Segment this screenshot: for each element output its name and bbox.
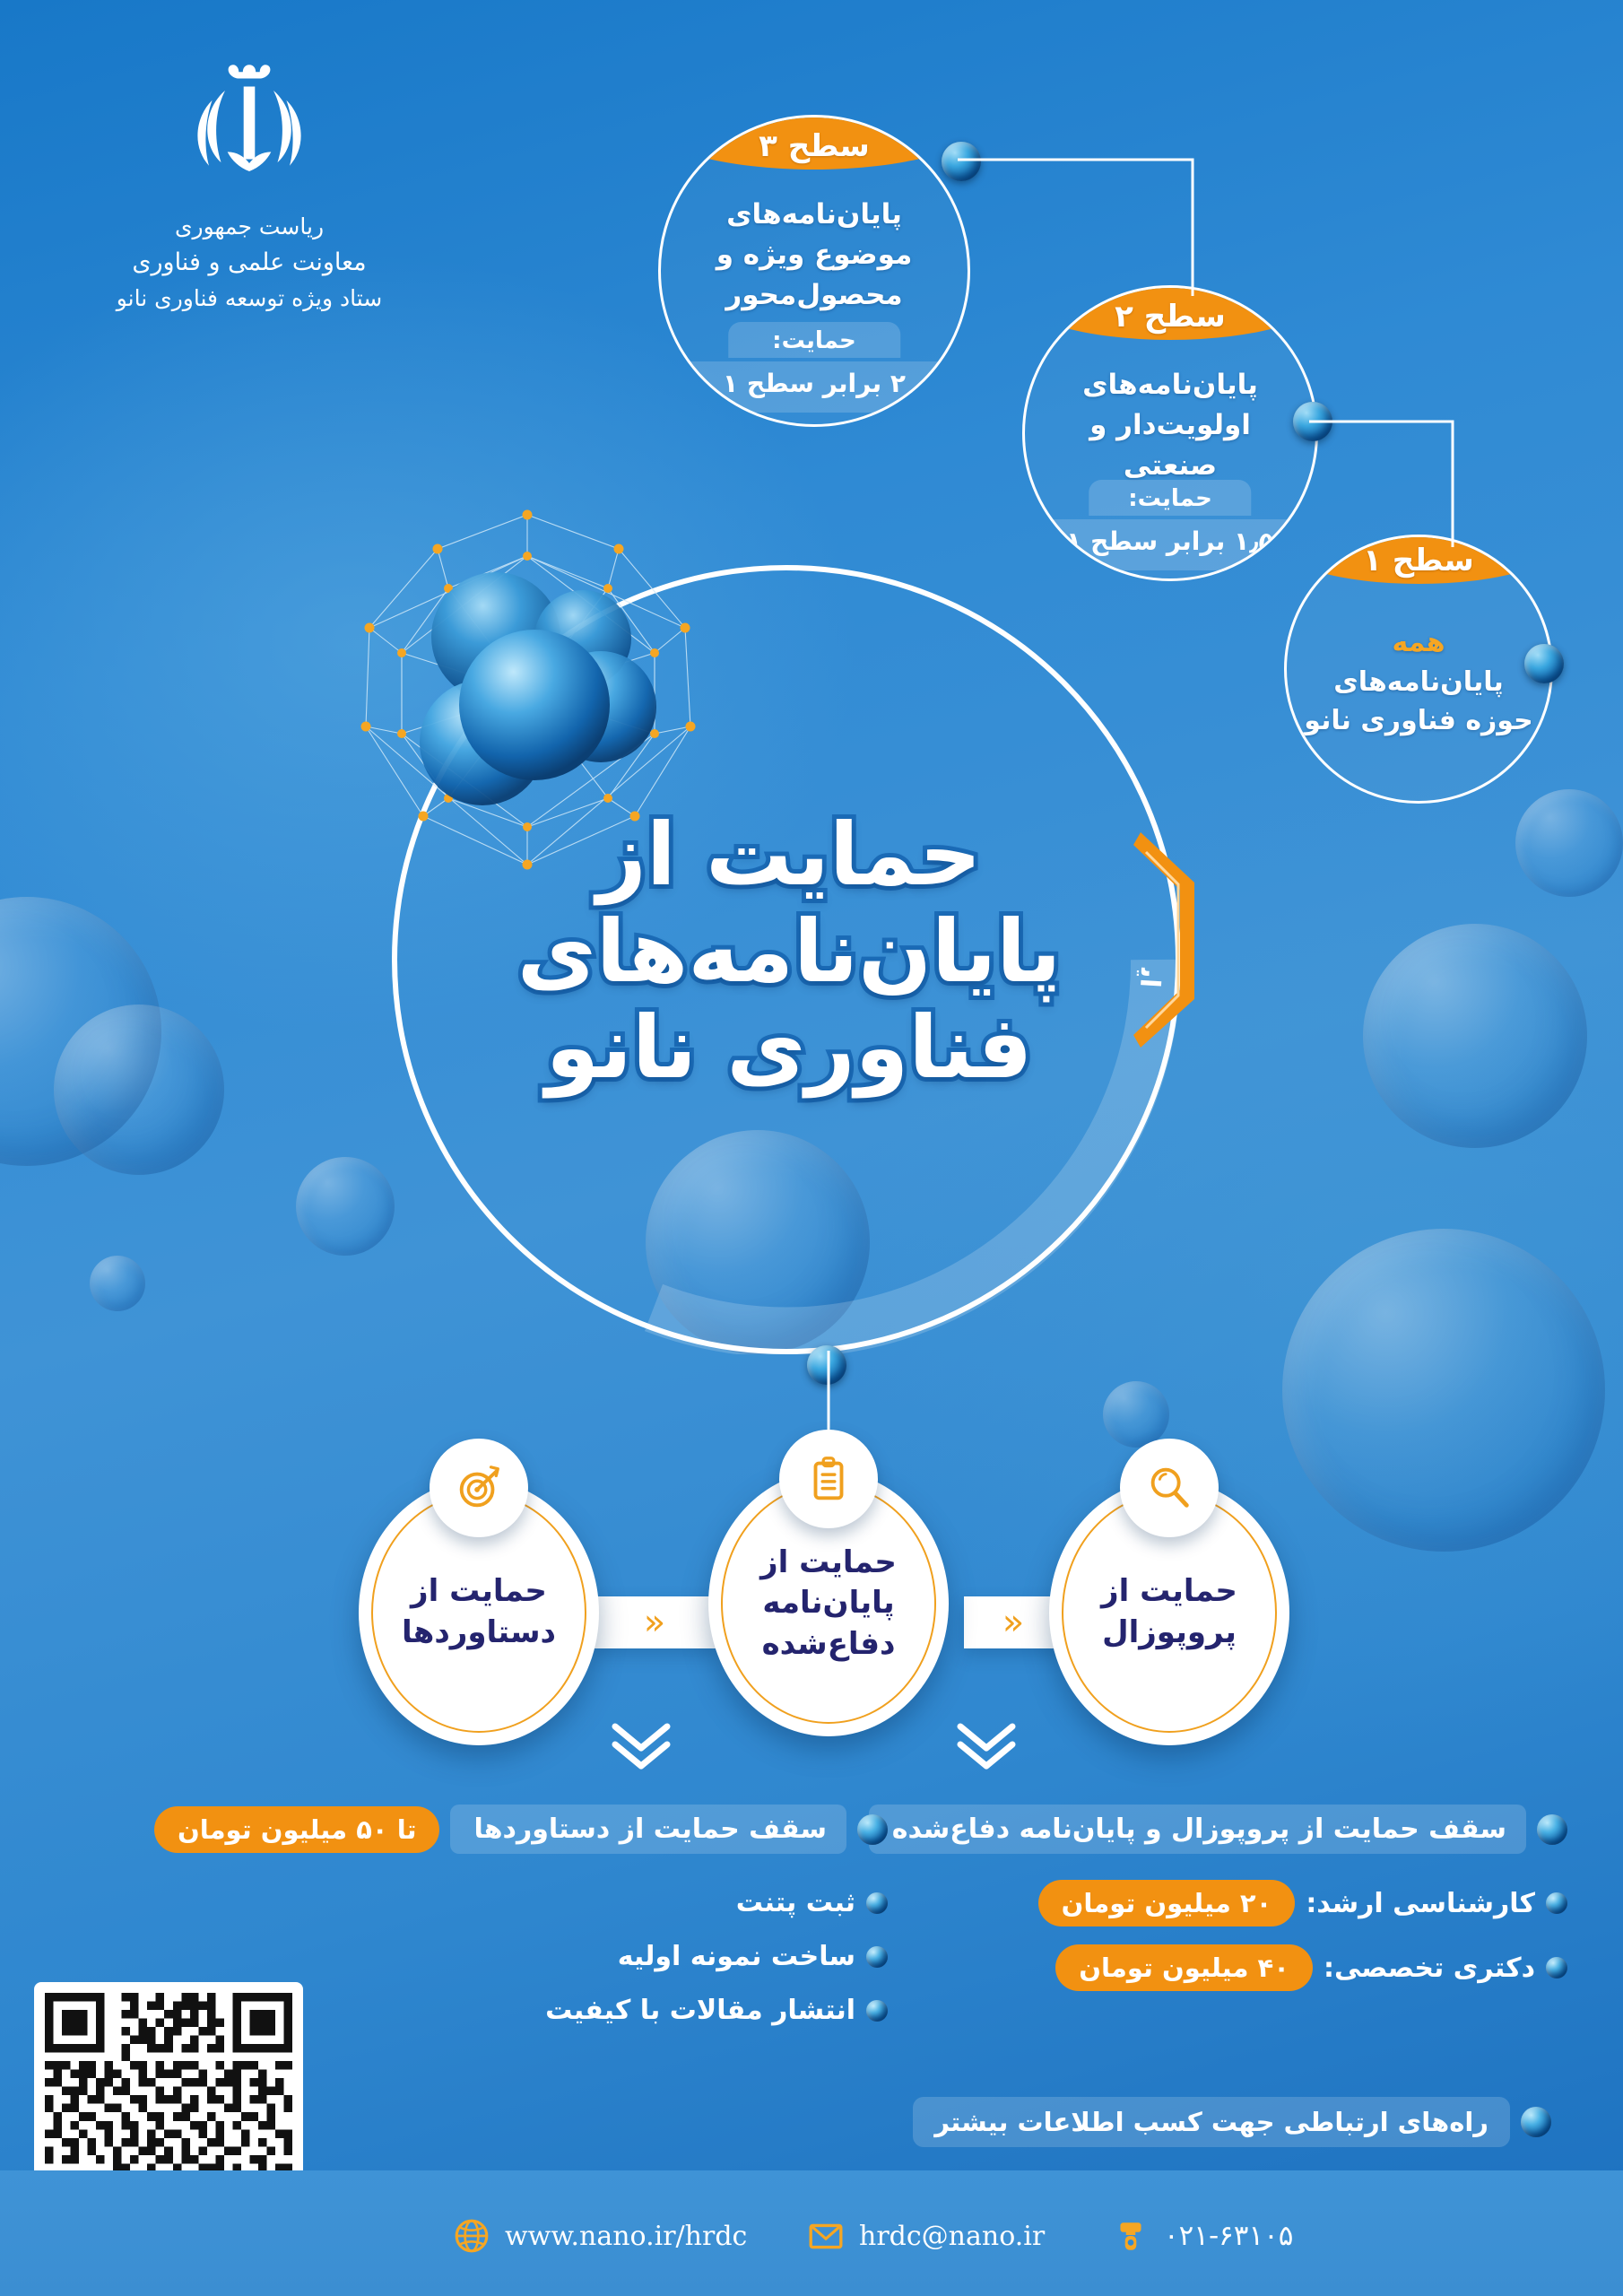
background-bubble bbox=[90, 1256, 145, 1311]
contact-website-text: www.nano.ir/hrdc bbox=[505, 2221, 747, 2252]
card-support-defended-thesis[interactable]: حمایت از پایان‌نامه دفاع‌شده bbox=[708, 1471, 949, 1736]
contact-email[interactable]: hrdc@nano.ir bbox=[807, 2217, 1045, 2255]
support-right-title: سقف حمایت از پروپوزال و پایان‌نامه دفاع‌… bbox=[869, 1805, 1567, 1854]
achievement-item-label: ساخت نمونه اولیه bbox=[618, 1941, 855, 1972]
achievement-item: ساخت نمونه اولیه bbox=[618, 1941, 888, 1972]
contact-website[interactable]: www.nano.ir/hrdc bbox=[453, 2217, 747, 2255]
magnifier-icon bbox=[1120, 1439, 1219, 1537]
bullet-orb-icon bbox=[1537, 1814, 1567, 1845]
orange-chevron-accent bbox=[1132, 832, 1198, 1048]
contact-section-title-text: راه‌های ارتباطی جهت کسب اطلاعات بیشتر bbox=[913, 2097, 1510, 2147]
contact-phone-text: ۰۲۱-۶۳۱۰۵ bbox=[1164, 2220, 1293, 2252]
bullet-orb-icon bbox=[1546, 1892, 1567, 1914]
card-achievements-label: حمایت از دستاوردها bbox=[359, 1571, 599, 1653]
globe-icon bbox=[453, 2217, 490, 2255]
bullet-orb-icon bbox=[1546, 1957, 1567, 1979]
bullet-orb-icon bbox=[866, 1946, 888, 1968]
envelope-icon bbox=[807, 2217, 845, 2255]
support-right-row-phd: دکتری تخصصی: ۴۰ میلیون تومان bbox=[1055, 1944, 1567, 1991]
bullet-orb-icon bbox=[866, 2000, 888, 2022]
flow-connector-left: « bbox=[592, 1596, 717, 1648]
support-left-title-text: سقف حمایت از دستاوردها bbox=[450, 1805, 846, 1854]
masters-label: کارشناسی ارشد: bbox=[1306, 1888, 1535, 1919]
support-left-amount: تا ۵۰ میلیون تومان bbox=[154, 1806, 440, 1853]
clipboard-icon bbox=[779, 1430, 878, 1528]
telephone-icon bbox=[1112, 2217, 1150, 2255]
achievement-item-label: انتشار مقالات با کیفیت bbox=[545, 1995, 855, 2026]
phd-label: دکتری تخصصی: bbox=[1324, 1952, 1535, 1984]
flow-chevron-right: « bbox=[1002, 1605, 1024, 1640]
title-line-2: پایان‌نامه‌های bbox=[466, 904, 1112, 1001]
background-bubble bbox=[0, 897, 161, 1166]
target-icon bbox=[430, 1439, 528, 1537]
support-left-title: سقف حمایت از دستاوردها تا ۵۰ میلیون توما… bbox=[154, 1805, 888, 1854]
contact-section-title: راه‌های ارتباطی جهت کسب اطلاعات بیشتر bbox=[913, 2097, 1551, 2147]
achievement-item: انتشار مقالات با کیفیت bbox=[545, 1995, 888, 2026]
contact-phone[interactable]: ۰۲۱-۶۳۱۰۵ bbox=[1112, 2217, 1293, 2255]
achievement-item: ثبت پتنت bbox=[736, 1887, 888, 1918]
card-support-achievements[interactable]: حمایت از دستاوردها bbox=[359, 1480, 599, 1745]
background-bubble bbox=[1282, 1229, 1605, 1552]
title-line-3: فناوری نانو bbox=[466, 1000, 1112, 1097]
bullet-orb-icon bbox=[857, 1814, 888, 1845]
poster-canvas: ریاست جمهوری معاونت علمی و فناوری ستاد و… bbox=[0, 0, 1623, 2296]
title-line-1: حمایت از bbox=[466, 807, 1112, 904]
support-right-row-masters: کارشناسی ارشد: ۲۰ میلیون تومان bbox=[1038, 1880, 1567, 1926]
support-right-title-text: سقف حمایت از پروپوزال و پایان‌نامه دفاع‌… bbox=[869, 1805, 1526, 1854]
background-bubble bbox=[1103, 1381, 1169, 1448]
phd-amount: ۴۰ میلیون تومان bbox=[1055, 1944, 1313, 1991]
achievement-item-label: ثبت پتنت bbox=[736, 1887, 855, 1918]
background-bubble bbox=[296, 1157, 395, 1256]
flow-chevron-left: « bbox=[644, 1605, 665, 1640]
card-defended-label: حمایت از پایان‌نامه دفاع‌شده bbox=[708, 1543, 949, 1665]
page-title: حمایت از پایان‌نامه‌های فناوری نانو bbox=[466, 807, 1112, 1097]
background-bubble bbox=[1363, 924, 1587, 1148]
contact-email-text: hrdc@nano.ir bbox=[859, 2221, 1045, 2252]
card-proposal-label: حمایت از پروپوزال bbox=[1049, 1571, 1289, 1653]
flow-connector-right: « bbox=[964, 1596, 1063, 1648]
level-connectors bbox=[0, 0, 1623, 897]
masters-amount: ۲۰ میلیون تومان bbox=[1038, 1880, 1296, 1926]
card-support-proposal[interactable]: حمایت از پروپوزال bbox=[1049, 1480, 1289, 1745]
bullet-orb-icon bbox=[866, 1892, 888, 1914]
bullet-orb-icon bbox=[1521, 2107, 1551, 2137]
chevron-down-icon bbox=[610, 1718, 673, 1780]
background-bubble bbox=[54, 1004, 224, 1175]
chevron-down-icon bbox=[955, 1718, 1018, 1780]
